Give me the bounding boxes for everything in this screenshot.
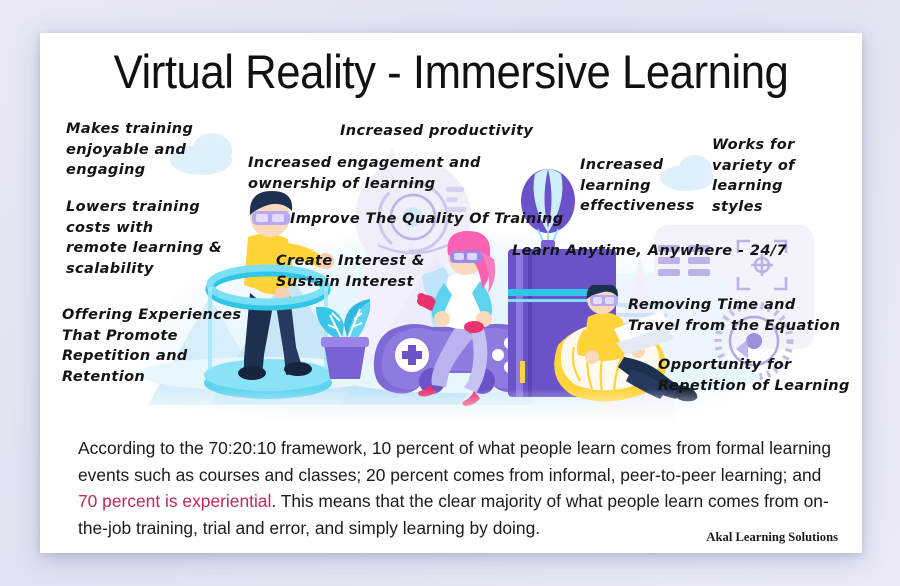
paragraph-highlight: 70 percent is experiential <box>78 491 271 511</box>
infographic-canvas: Virtual Reality - Immersive Learning <box>0 0 900 586</box>
note-lowers-training-costs: Lowers training costs with remote learni… <box>66 197 246 279</box>
note-increased-engagement: Increased engagement and ownership of le… <box>248 153 498 194</box>
note-removing-time-and-travel: Removing Time and Travel from the Equati… <box>628 295 862 336</box>
summary-paragraph: According to the 70:20:10 framework, 10 … <box>78 435 838 541</box>
note-create-interest: Create Interest & Sustain Interest <box>276 251 466 292</box>
note-learn-anytime-anywhere: Learn Anytime, Anywhere - 24/7 <box>512 241 832 262</box>
note-increased-learning-effectiveness: Increased learning effectiveness <box>580 155 700 217</box>
note-improve-quality-of-training: Improve The Quality Of Training <box>290 209 570 230</box>
note-increased-productivity: Increased productivity <box>340 121 540 142</box>
infographic-card: Virtual Reality - Immersive Learning <box>40 33 862 553</box>
paragraph-part-1: According to the 70:20:10 framework, 10 … <box>78 438 831 485</box>
note-makes-training-enjoyable: Makes training enjoyable and engaging <box>66 119 226 181</box>
note-opportunity-for-repetition: Opportunity for Repetition of Learning <box>658 355 862 396</box>
page-title: Virtual Reality - Immersive Learning <box>69 45 833 99</box>
credit-line: Akal Learning Solutions <box>706 530 838 545</box>
note-works-for-variety-of-styles: Works for variety of learning styles <box>712 135 822 217</box>
note-offering-experiences: Offering Experiences That Promote Repeti… <box>62 305 252 387</box>
